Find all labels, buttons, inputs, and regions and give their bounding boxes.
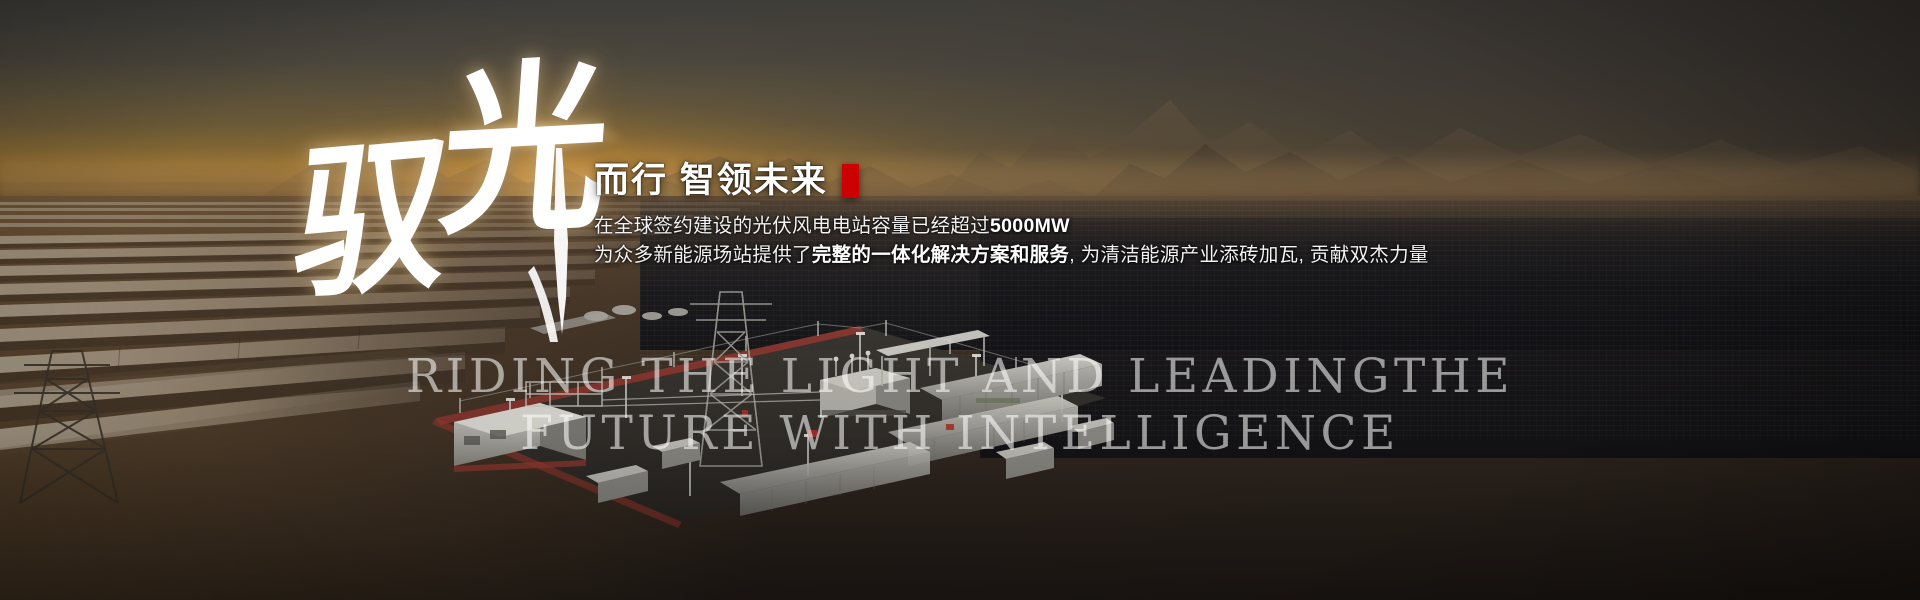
hero-banner: 驭 光 而行 智领未来 在全球签约建设的光伏风电电站容量已经超过5000MW 为… — [0, 0, 1920, 600]
subtitle-1-text: 在全球签约建设的光伏风电电站容量已经超过 — [594, 215, 990, 237]
subtitle-line-2: 为众多新能源场站提供了完整的一体化解决方案和服务, 为清洁能源产业添砖加瓦, 贡… — [594, 241, 1354, 270]
accent-block — [842, 164, 859, 198]
subtitle-2-text-b: , 为清洁能源产业添砖加瓦, 贡献双杰力量 — [1069, 244, 1428, 266]
subtitle-1-highlight: 5000MW — [990, 215, 1070, 237]
subtitle-2-text-a: 为众多新能源场站提供了 — [594, 244, 812, 266]
page-title: 而行 智领未来 — [594, 163, 828, 200]
hero-copy: 而行 智领未来 在全球签约建设的光伏风电电站容量已经超过5000MW 为众多新能… — [594, 163, 1354, 270]
substation-complex — [390, 270, 1150, 570]
headline-row: 而行 智领未来 — [594, 163, 1354, 200]
subtitle-line-1: 在全球签约建设的光伏风电电站容量已经超过5000MW — [594, 212, 1354, 241]
subtitle-2-highlight: 完整的一体化解决方案和服务 — [812, 244, 1069, 266]
transmission-pylon — [8, 345, 128, 505]
